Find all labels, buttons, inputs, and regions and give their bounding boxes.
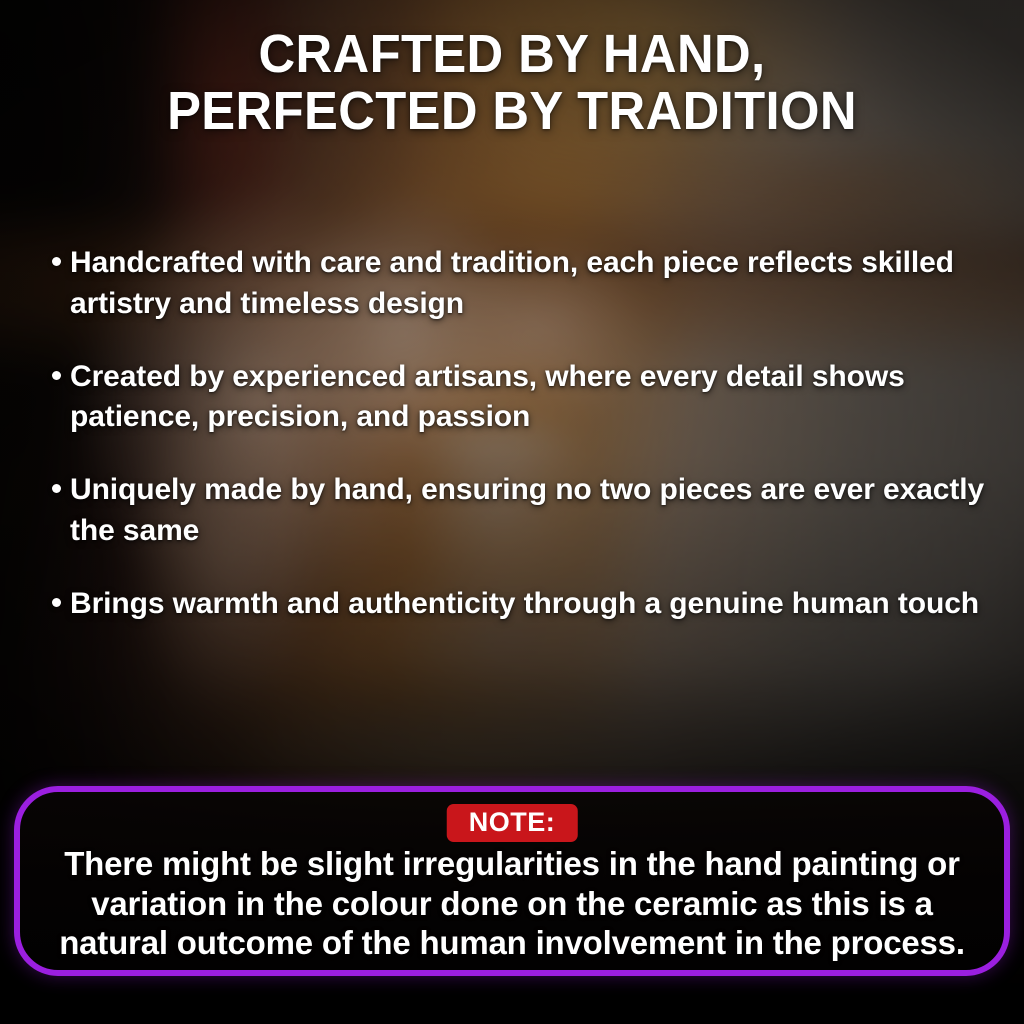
headline: CRAFTED BY HAND, PERFECTED BY TRADITION xyxy=(31,26,994,140)
list-item: Handcrafted with care and tradition, eac… xyxy=(52,243,994,325)
bullet-text: Handcrafted with care and tradition, eac… xyxy=(70,243,985,325)
bullet-dot-icon xyxy=(52,598,61,607)
note-text-line-3: natural outcome of the human involvement… xyxy=(34,923,990,963)
bullet-text: Brings warmth and authenticity through a… xyxy=(70,584,979,625)
bullet-dot-icon xyxy=(52,371,61,380)
note-text: There might be slight irregularities in … xyxy=(34,844,990,963)
bullet-text: Uniquely made by hand, ensuring no two p… xyxy=(70,470,985,552)
list-item: Brings warmth and authenticity through a… xyxy=(52,584,994,625)
feature-bullet-list: Handcrafted with care and tradition, eac… xyxy=(52,243,994,657)
note-text-line-1: There might be slight irregularities in … xyxy=(34,844,990,884)
list-item: Uniquely made by hand, ensuring no two p… xyxy=(52,470,994,552)
bullet-dot-icon xyxy=(52,484,61,493)
list-item: Created by experienced artisans, where e… xyxy=(52,357,994,439)
note-badge: NOTE: xyxy=(447,804,578,842)
note-box: NOTE: There might be slight irregulariti… xyxy=(14,786,1010,976)
poster-root: CRAFTED BY HAND, PERFECTED BY TRADITION … xyxy=(0,0,1024,1024)
headline-line-1: CRAFTED BY HAND, xyxy=(68,26,955,83)
note-text-line-2: variation in the colour done on the cera… xyxy=(34,884,990,924)
bullet-text: Created by experienced artisans, where e… xyxy=(70,357,985,439)
bullet-dot-icon xyxy=(52,257,61,266)
headline-line-2: PERFECTED BY TRADITION xyxy=(68,83,955,140)
